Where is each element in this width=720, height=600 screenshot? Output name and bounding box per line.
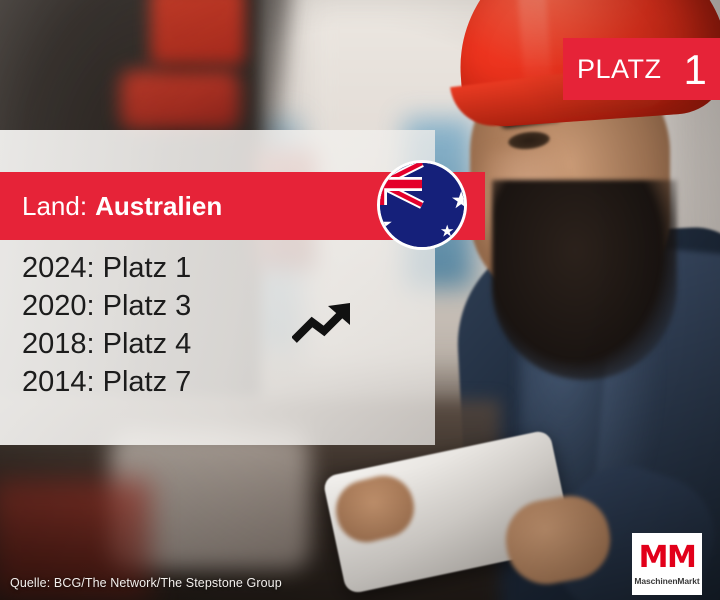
mm-logo-wordmark: MaschinenMarkt (634, 577, 699, 586)
list-item: 2024: Platz 1 (22, 250, 191, 288)
trending-up-arrow-icon (292, 300, 358, 346)
country-name: Australien (95, 191, 222, 222)
ranking-list: 2024: Platz 1 2020: Platz 3 2018: Platz … (22, 250, 191, 402)
australia-flag-svg (380, 163, 464, 247)
country-label: Land: (22, 191, 87, 222)
source-caption: Quelle: BCG/The Network/The Stepstone Gr… (10, 576, 282, 590)
platz-label: PLATZ (577, 56, 662, 83)
infographic-card: PLATZ 1 Land: Australien (0, 0, 720, 600)
australia-flag-icon (377, 160, 467, 250)
trending-up-arrow-svg (292, 300, 358, 346)
platz-badge: PLATZ 1 (563, 38, 720, 100)
platz-rank-value: 1 (684, 49, 707, 91)
mm-logo-mark: MM (639, 543, 696, 573)
maschinenmarkt-logo: MM MaschinenMarkt (632, 533, 702, 595)
list-item: 2014: Platz 7 (22, 364, 191, 402)
list-item: 2018: Platz 4 (22, 326, 191, 364)
list-item: 2020: Platz 3 (22, 288, 191, 326)
